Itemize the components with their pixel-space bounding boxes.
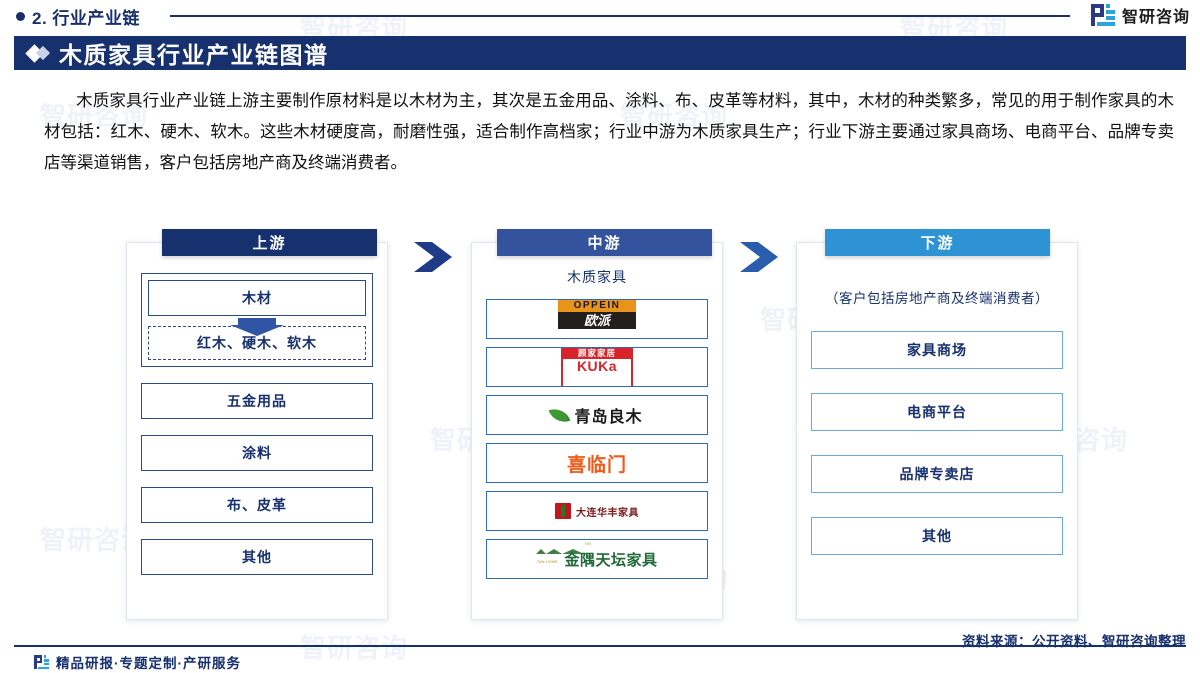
footer-tagline-text: 精品研报·专题定制·产研服务: [56, 652, 241, 672]
dalian-huafeng-text: 大连华丰家具: [576, 504, 639, 519]
upstream-item-other[interactable]: 其他: [141, 539, 373, 575]
jinyu-tiantan-logo-icon: TIN TAN HOME 天坛家具 金隅天坛家具: [536, 540, 657, 578]
footer-divider: [14, 645, 1186, 647]
oppein-logo-icon: OPPEIN 欧派: [558, 300, 636, 338]
brand-logo: 智研咨询: [1091, 3, 1190, 27]
xilinmen-logo-icon: 喜临门: [567, 444, 627, 482]
value-chain-diagram: 上游 木材 红木、硬木、软木 五金用品 涂料 布、皮革 其他 中游 木质家具 O…: [126, 228, 1076, 618]
midstream-label: 木质家具: [472, 267, 722, 287]
upstream-item-hardware[interactable]: 五金用品: [141, 383, 373, 419]
zhiyan-logo-icon: [1091, 4, 1115, 26]
title-band: 木质家具行业产业链图谱: [14, 36, 1186, 70]
header-divider: [170, 15, 1070, 17]
downstream-column: 下游 （客户包括房地产商及终端消费者） 家具商场 电商平台 品牌专卖店 其他: [796, 242, 1078, 620]
brand-oppein[interactable]: OPPEIN 欧派: [486, 299, 708, 339]
brand-dalian-huafeng[interactable]: 大连华丰家具: [486, 491, 708, 531]
oppein-logo-top: OPPEIN: [558, 300, 636, 312]
xilinmen-text: 喜临门: [567, 450, 627, 477]
brand-name: 智研咨询: [1122, 3, 1190, 27]
watermark-text: 智研咨询: [300, 628, 408, 665]
upstream-column: 上游 木材 红木、硬木、软木 五金用品 涂料 布、皮革 其他: [126, 242, 388, 620]
upstream-wood-box[interactable]: 木材: [148, 280, 366, 316]
oppein-logo-bottom: 欧派: [558, 312, 636, 329]
footer-tagline: 精品研报·专题定制·产研服务: [34, 652, 241, 672]
zhiyan-logo-icon: [34, 655, 49, 669]
brand-jinyu-tiantan[interactable]: TIN TAN HOME 天坛家具 金隅天坛家具: [486, 539, 708, 579]
upstream-item-fabric-leather[interactable]: 布、皮革: [141, 487, 373, 523]
downstream-item-other[interactable]: 其他: [811, 517, 1063, 555]
downstream-item-ecommerce[interactable]: 电商平台: [811, 393, 1063, 431]
downstream-item-brand-store[interactable]: 品牌专卖店: [811, 455, 1063, 493]
upstream-wood-group: 木材 红木、硬木、软木: [141, 273, 373, 367]
page-header: 2. 行业产业链 智研咨询: [0, 0, 1200, 33]
kuka-logo-bottom: KUKa: [563, 359, 631, 374]
intro-paragraph-text: 木质家具行业产业链上游主要制作原材料是以木材为主，其次是五金用品、涂料、布、皮革…: [44, 92, 1174, 172]
page-title: 木质家具行业产业链图谱: [59, 36, 329, 70]
qingdao-liangmu-logo-icon: 青岛良木: [551, 396, 642, 434]
brand-qingdao-liangmu[interactable]: 青岛良木: [486, 395, 708, 435]
pagoda-icon: TIN TAN HOME 天坛家具: [536, 539, 558, 579]
midstream-header: 中游: [497, 229, 712, 256]
section-bullet-icon: [16, 12, 25, 21]
kuka-logo-icon: 顾家家居 KUKa: [561, 347, 633, 387]
midstream-column: 中游 木质家具 OPPEIN 欧派 顾家家居 KUKa 青岛良木: [471, 242, 723, 620]
source-note: 资料来源：公开资料、智研咨询整理: [962, 630, 1186, 650]
downstream-note: （客户包括房地产商及终端消费者）: [797, 287, 1077, 307]
diamond-bullet-icon: [28, 47, 48, 60]
jinyu-tiantan-text: 金隅天坛家具: [564, 549, 657, 570]
brand-xilinmen[interactable]: 喜临门: [486, 443, 708, 483]
downstream-header: 下游: [825, 229, 1050, 256]
chevron-right-icon: [738, 240, 782, 274]
qingdao-liangmu-text: 青岛良木: [574, 403, 642, 427]
huafeng-mark-icon: [555, 503, 571, 519]
upstream-header: 上游: [162, 229, 377, 256]
upstream-item-coating[interactable]: 涂料: [141, 435, 373, 471]
chevron-right-icon: [412, 240, 456, 274]
section-title: 2. 行业产业链: [32, 4, 140, 29]
downstream-item-furniture-mall[interactable]: 家具商场: [811, 331, 1063, 369]
leaf-icon: [549, 404, 571, 426]
dalian-huafeng-logo-icon: 大连华丰家具: [555, 492, 639, 530]
brand-kuka[interactable]: 顾家家居 KUKa: [486, 347, 708, 387]
intro-paragraph: 木质家具行业产业链上游主要制作原材料是以木材为主，其次是五金用品、涂料、布、皮革…: [44, 86, 1174, 179]
